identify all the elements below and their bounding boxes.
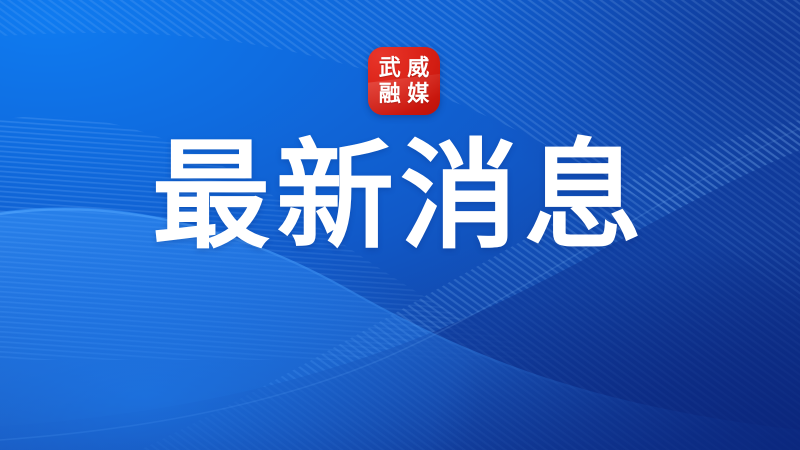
logo-char-wei: 威 <box>406 56 432 81</box>
logo-char-mei: 媒 <box>406 82 432 107</box>
banner-canvas: 武 威 融 媒 最新消息 <box>0 0 800 450</box>
wuwei-rongmei-logo[interactable]: 武 威 融 媒 <box>368 47 440 115</box>
logo-char-wu: 武 <box>377 56 403 81</box>
logo-char-rong: 融 <box>377 82 403 107</box>
headline-text: 最新消息 <box>152 137 648 255</box>
headline-block: 最新消息 <box>0 133 800 259</box>
logo-character-grid: 武 威 融 媒 <box>377 56 431 106</box>
